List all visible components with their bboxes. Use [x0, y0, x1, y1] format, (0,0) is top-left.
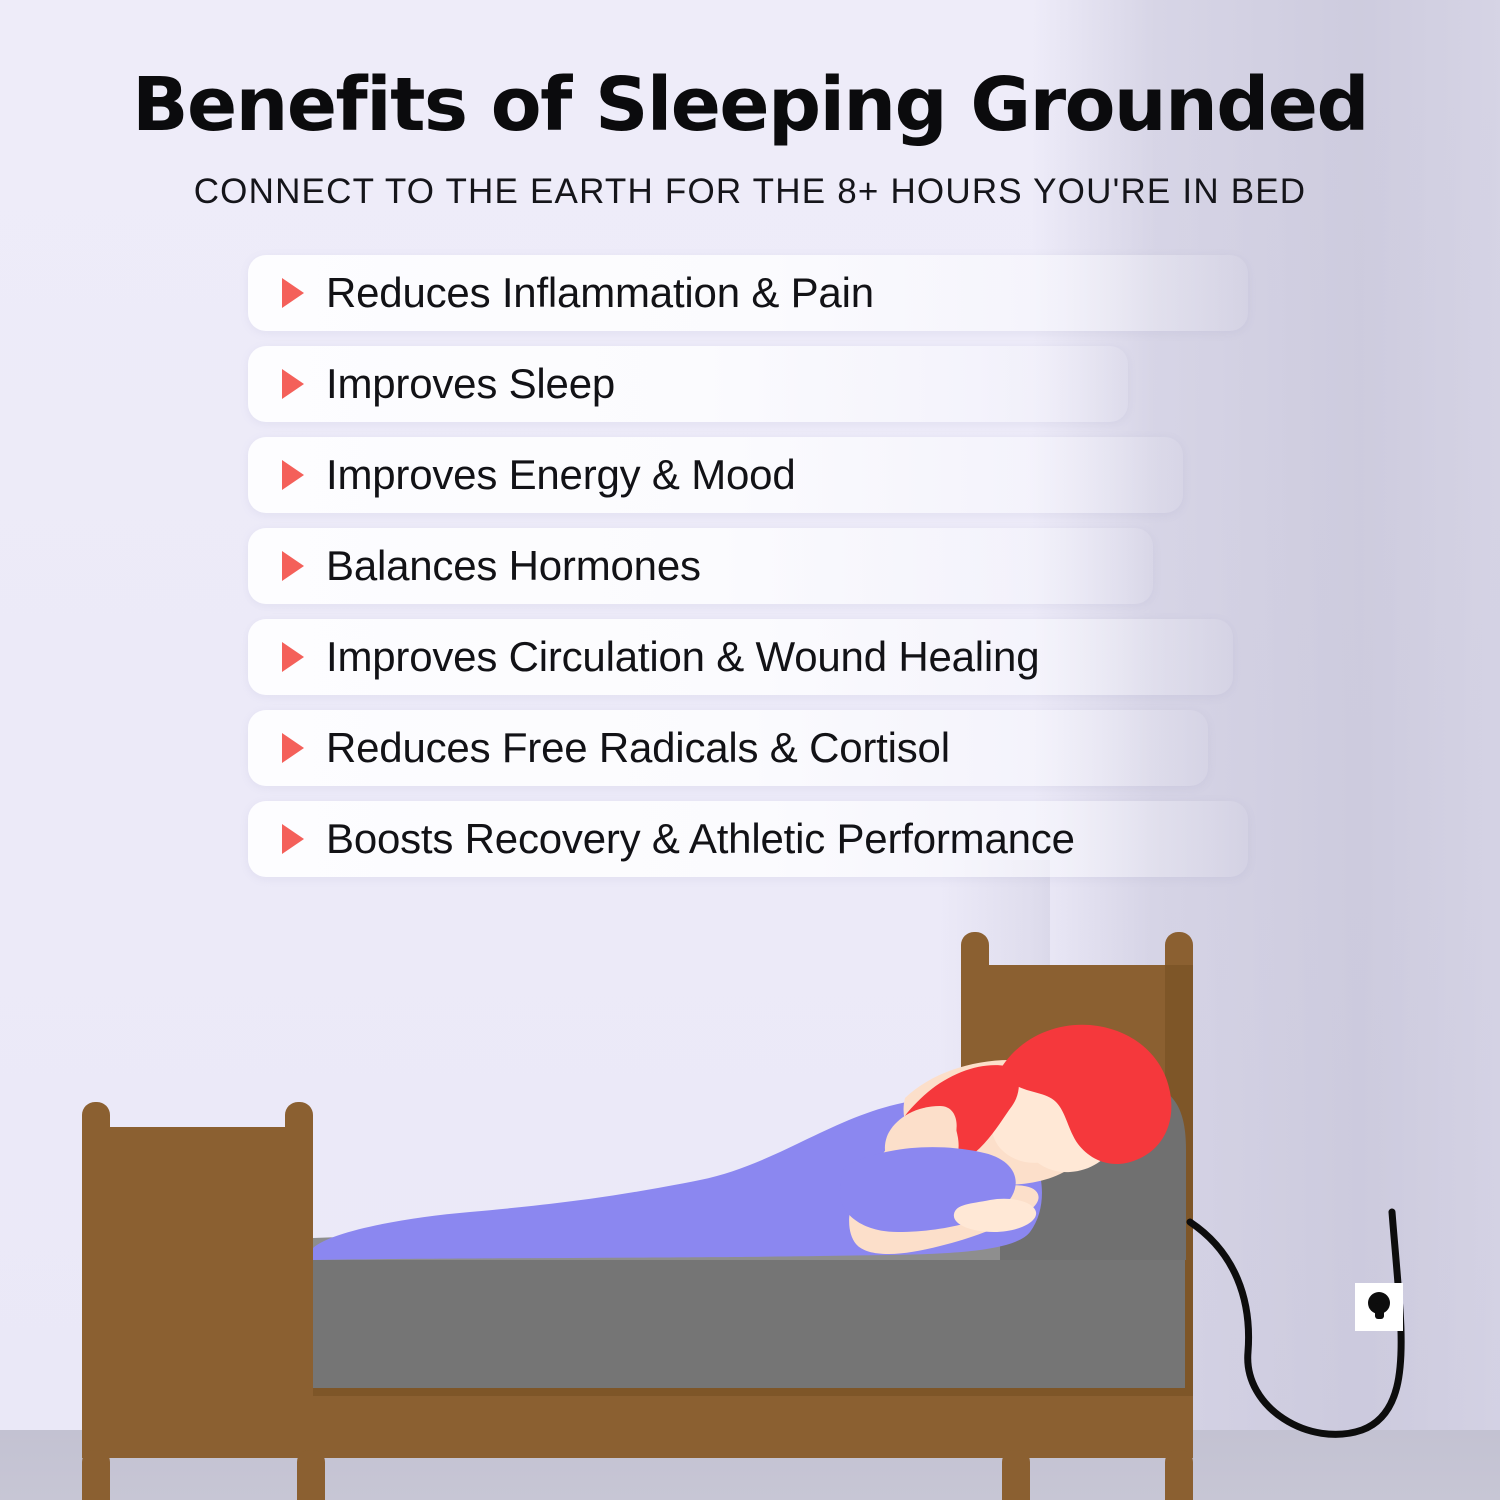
benefit-content: Improves Circulation & Wound Healing [248, 633, 1039, 681]
benefit-content: Reduces Inflammation & Pain [248, 269, 874, 317]
play-triangle-icon [282, 278, 304, 308]
benefit-item: Improves Circulation & Wound Healing [248, 619, 1258, 695]
plug-prong [1375, 1303, 1384, 1319]
benefit-content: Improves Sleep [248, 360, 615, 408]
benefit-item: Reduces Inflammation & Pain [248, 255, 1258, 331]
play-triangle-icon [282, 551, 304, 581]
wall-outlet[interactable] [1355, 1283, 1415, 1343]
benefit-item: Reduces Free Radicals & Cortisol [248, 710, 1258, 786]
benefit-content: Improves Energy & Mood [248, 451, 795, 499]
grounded-sleeper-illustration [0, 860, 1500, 1500]
benefit-content: Boosts Recovery & Athletic Performance [248, 815, 1075, 863]
benefit-content: Reduces Free Radicals & Cortisol [248, 724, 950, 772]
benefit-item: Improves Sleep [248, 346, 1258, 422]
benefit-item: Balances Hormones [248, 528, 1258, 604]
benefits-list: Reduces Inflammation & PainImproves Slee… [248, 255, 1258, 892]
header: Benefits of Sleeping Grounded CONNECT TO… [0, 0, 1500, 212]
bed-frame [82, 1388, 1193, 1500]
play-triangle-icon [282, 642, 304, 672]
play-triangle-icon [282, 733, 304, 763]
page-subtitle: CONNECT TO THE EARTH FOR THE 8+ HOURS YO… [0, 172, 1500, 212]
benefit-label: Boosts Recovery & Athletic Performance [326, 815, 1075, 863]
benefit-label: Reduces Free Radicals & Cortisol [326, 724, 950, 772]
benefit-label: Balances Hormones [326, 542, 701, 590]
benefit-label: Reduces Inflammation & Pain [326, 269, 874, 317]
benefit-label: Improves Circulation & Wound Healing [326, 633, 1039, 681]
play-triangle-icon [282, 460, 304, 490]
benefit-label: Improves Energy & Mood [326, 451, 795, 499]
play-triangle-icon [282, 824, 304, 854]
infographic-canvas: Benefits of Sleeping Grounded CONNECT TO… [0, 0, 1500, 1500]
footboard [82, 1102, 313, 1393]
benefit-item: Improves Energy & Mood [248, 437, 1258, 513]
play-triangle-icon [282, 369, 304, 399]
mattress [313, 1260, 1185, 1388]
benefit-content: Balances Hormones [248, 542, 701, 590]
benefit-label: Improves Sleep [326, 360, 615, 408]
page-title: Benefits of Sleeping Grounded [0, 68, 1500, 142]
